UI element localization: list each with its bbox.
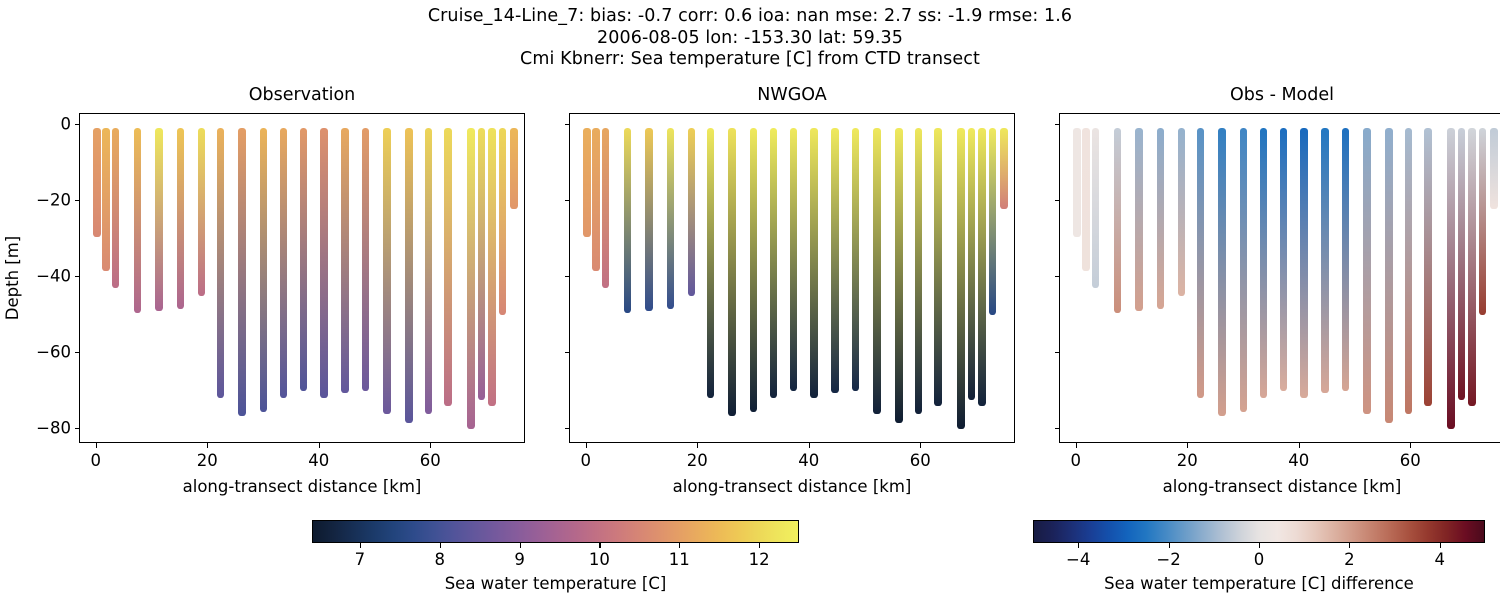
x-ticklabel: 40 <box>1288 451 1309 470</box>
cast-profile <box>810 128 818 399</box>
colorbar-tick <box>440 543 441 548</box>
cast-profile <box>1260 128 1268 399</box>
cast-profile <box>134 128 142 313</box>
cast-profile <box>112 128 120 289</box>
x-tick <box>1299 443 1300 448</box>
colorbar-ticklabel: 8 <box>434 550 445 569</box>
cast-profile <box>478 128 486 401</box>
cast-profile <box>934 128 942 406</box>
cast-profile <box>177 128 185 310</box>
x-ticklabel: 20 <box>1177 451 1198 470</box>
cast-profile <box>978 128 986 406</box>
y-tick <box>565 200 570 201</box>
y-ticklabel: −20 <box>21 191 71 210</box>
cast-profile <box>300 128 308 391</box>
x-ticklabel: 60 <box>420 451 441 470</box>
xaxis-label-observation: along-transect distance [km] <box>79 477 525 496</box>
colorbar-tick <box>1440 543 1441 548</box>
colorbar-ticklabel: 9 <box>514 550 525 569</box>
cast-profile <box>1135 128 1143 312</box>
cast-profile <box>1240 128 1248 412</box>
x-tick <box>697 443 698 448</box>
xaxis-label-obs-model: along-transect distance [km] <box>1059 477 1500 496</box>
cast-profile <box>1300 128 1308 399</box>
panel-title-obs-model: Obs - Model <box>1059 85 1500 105</box>
suptitle-line-position: 2006-08-05 lon: -153.30 lat: 59.35 <box>0 28 1500 50</box>
colorbar-tick <box>599 543 600 548</box>
cast-profile <box>915 128 923 414</box>
y-tick <box>1055 352 1060 353</box>
x-ticklabel: 0 <box>1070 451 1081 470</box>
cast-profile <box>1468 128 1476 406</box>
cast-profile <box>1342 128 1350 391</box>
cast-profile <box>280 128 288 399</box>
cast-profile <box>1197 128 1205 399</box>
cast-profile <box>362 128 370 391</box>
cast-profile <box>707 128 715 399</box>
x-tick <box>207 443 208 448</box>
cast-profile <box>155 128 163 312</box>
y-tick <box>565 352 570 353</box>
y-tick <box>75 352 80 353</box>
x-tick <box>319 443 320 448</box>
x-tick <box>920 443 921 448</box>
cast-profile <box>1114 128 1122 313</box>
x-tick <box>586 443 587 448</box>
y-tick <box>565 428 570 429</box>
x-tick <box>430 443 431 448</box>
cast-profile <box>1073 128 1081 238</box>
axes-observation <box>79 113 525 443</box>
cast-profile <box>238 128 246 416</box>
suptitle-line-variable: Cmi Kbnerr: Sea temperature [C] from CTD… <box>0 49 1500 71</box>
cast-profile <box>1280 128 1288 391</box>
colorbar-ticklabel: −4 <box>1066 550 1090 569</box>
y-tick <box>1055 428 1060 429</box>
x-ticklabel: 20 <box>197 451 218 470</box>
x-ticklabel: 0 <box>90 451 101 470</box>
axes-nwgoa <box>569 113 1015 443</box>
cast-profile <box>728 128 736 416</box>
cast-profile <box>790 128 798 391</box>
cast-profile <box>383 128 391 414</box>
cast-profile <box>688 128 696 296</box>
y-ticklabel: −40 <box>21 267 71 286</box>
x-tick <box>1410 443 1411 448</box>
cast-profile <box>645 128 653 312</box>
figure-suptitle: Cruise_14-Line_7: bias: -0.7 corr: 0.6 i… <box>0 6 1500 71</box>
colorbar-ticklabel: 12 <box>749 550 770 569</box>
xaxis-label-nwgoa: along-transect distance [km] <box>569 477 1015 496</box>
cast-profile <box>198 128 206 296</box>
colorbar-ticklabel: −2 <box>1156 550 1180 569</box>
cast-profile <box>320 128 328 399</box>
cast-profile <box>852 128 860 391</box>
cast-profile <box>467 128 475 429</box>
cast-profile <box>1178 128 1186 296</box>
axes-obs-model <box>1059 113 1500 443</box>
cast-profile <box>667 128 675 310</box>
colorbar-temperature-difference <box>1033 520 1485 543</box>
cast-profile <box>1218 128 1226 416</box>
cast-profile <box>1447 128 1455 429</box>
colorbar-tick <box>1259 543 1260 548</box>
cast-profile <box>510 128 518 209</box>
colorbar-tick <box>520 543 521 548</box>
y-tick <box>1055 276 1060 277</box>
suptitle-line-stats: Cruise_14-Line_7: bias: -0.7 corr: 0.6 i… <box>0 6 1500 28</box>
y-ticklabel: −80 <box>21 418 71 437</box>
y-ticklabel: 0 <box>21 115 71 134</box>
x-tick <box>1076 443 1077 448</box>
y-tick <box>75 200 80 201</box>
x-ticklabel: 60 <box>1400 451 1421 470</box>
cast-profile <box>1458 128 1466 401</box>
cast-profile <box>260 128 268 412</box>
x-tick <box>96 443 97 448</box>
x-ticklabel: 40 <box>308 451 329 470</box>
x-ticklabel: 20 <box>687 451 708 470</box>
cast-profile <box>425 128 433 414</box>
cast-profile <box>873 128 881 414</box>
cast-profile <box>499 128 507 315</box>
colorbar-ticklabel: 11 <box>669 550 690 569</box>
x-tick <box>809 443 810 448</box>
cast-profile <box>624 128 632 313</box>
x-ticklabel: 0 <box>580 451 591 470</box>
colorbar-tick <box>1078 543 1079 548</box>
y-tick <box>75 428 80 429</box>
panel-title-observation: Observation <box>79 85 525 105</box>
cast-profile <box>989 128 997 315</box>
y-tick <box>565 276 570 277</box>
cast-profile <box>602 128 610 289</box>
cast-profile <box>1092 128 1100 289</box>
colorbar-tick <box>360 543 361 548</box>
y-tick <box>1055 124 1060 125</box>
cast-profile <box>957 128 965 429</box>
x-ticklabel: 60 <box>910 451 931 470</box>
colorbar-tick <box>759 543 760 548</box>
cast-profile <box>102 128 110 272</box>
colorbar-ticklabel: 0 <box>1254 550 1265 569</box>
y-tick <box>1055 200 1060 201</box>
panel-title-nwgoa: NWGOA <box>569 85 1015 105</box>
colorbar-ticklabel: 4 <box>1435 550 1446 569</box>
cast-profile <box>1405 128 1413 414</box>
cast-profile <box>1000 128 1008 209</box>
figure-canvas: Cruise_14-Line_7: bias: -0.7 corr: 0.6 i… <box>0 0 1500 600</box>
cast-profile <box>895 128 903 423</box>
cast-profile <box>444 128 452 406</box>
colorbar-label-temperature: Sea water temperature [C] <box>312 574 799 593</box>
cast-profile <box>217 128 225 399</box>
cast-profile <box>93 128 101 238</box>
cast-profile <box>405 128 413 423</box>
cast-profile <box>968 128 976 401</box>
cast-profile <box>341 128 349 393</box>
x-ticklabel: 40 <box>798 451 819 470</box>
cast-profile <box>1082 128 1090 272</box>
cast-profile <box>1157 128 1165 310</box>
cast-profile <box>1490 128 1498 209</box>
colorbar-ticklabel: 10 <box>589 550 610 569</box>
y-tick <box>75 276 80 277</box>
colorbar-tick <box>679 543 680 548</box>
colorbar-label-temperature-difference: Sea water temperature [C] difference <box>1033 574 1485 593</box>
cast-profile <box>1479 128 1487 315</box>
colorbar-tick <box>1169 543 1170 548</box>
cast-profile <box>1363 128 1371 414</box>
yaxis-label: Depth [m] <box>3 236 22 320</box>
cast-profile <box>1424 128 1432 406</box>
colorbar-tick <box>1349 543 1350 548</box>
cast-profile <box>1321 128 1329 393</box>
cast-profile <box>831 128 839 393</box>
colorbar-temperature <box>312 520 799 543</box>
x-tick <box>1187 443 1188 448</box>
y-tick <box>565 124 570 125</box>
cast-profile <box>583 128 591 238</box>
cast-profile <box>770 128 778 399</box>
y-ticklabel: −60 <box>21 342 71 361</box>
colorbar-ticklabel: 2 <box>1344 550 1355 569</box>
cast-profile <box>1385 128 1393 423</box>
cast-profile <box>488 128 496 406</box>
colorbar-ticklabel: 7 <box>355 550 366 569</box>
cast-profile <box>592 128 600 272</box>
y-tick <box>75 124 80 125</box>
cast-profile <box>750 128 758 412</box>
